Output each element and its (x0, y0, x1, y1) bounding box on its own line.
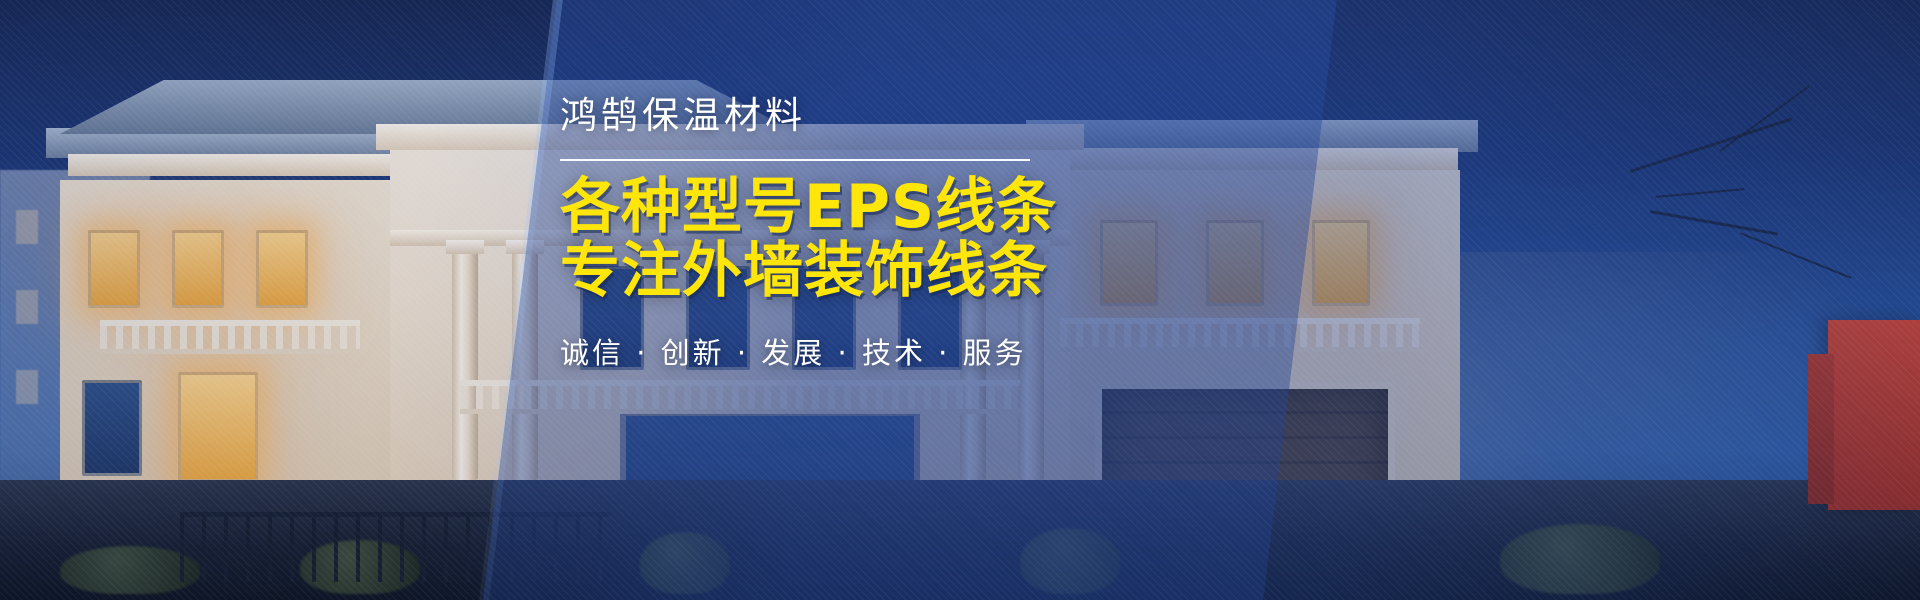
title-divider (560, 159, 1030, 161)
headline-line-1: 各种型号EPS线条 (560, 175, 1030, 240)
tagline: 诚信 · 创新 · 发展 · 技术 · 服务 (560, 330, 1030, 372)
brand-name: 鸿鹄保温材料 (560, 96, 1030, 137)
banner-copy-block: 鸿鹄保温材料 各种型号EPS线条 专注外墙装饰线条 诚信 · 创新 · 发展 ·… (560, 96, 1030, 372)
promo-banner: 鸿鹄保温材料 各种型号EPS线条 专注外墙装饰线条 诚信 · 创新 · 发展 ·… (0, 0, 1920, 600)
headline-line-2: 专注外墙装饰线条 (560, 239, 1030, 304)
